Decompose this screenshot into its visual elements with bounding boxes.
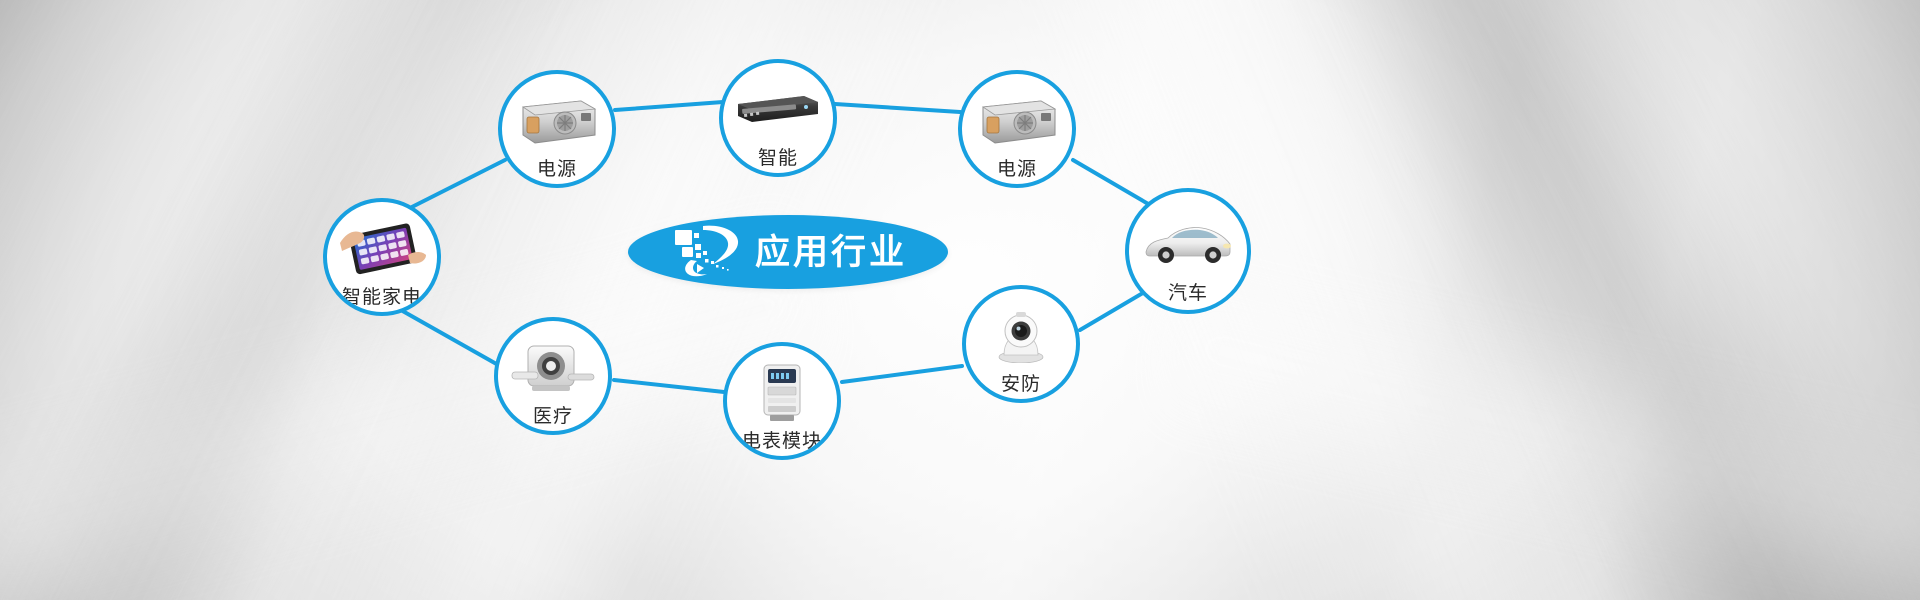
link-automotive-security	[1080, 290, 1148, 330]
rack-server-icon	[723, 63, 833, 141]
badge-title: 应用行业	[755, 235, 907, 270]
node-label: 电源	[537, 160, 577, 179]
node-power-right[interactable]: 电源	[958, 70, 1076, 188]
power-supply-icon	[502, 74, 612, 152]
node-security[interactable]: 安防	[962, 285, 1080, 403]
mri-scanner-icon	[498, 321, 608, 399]
link-power-right-automotive	[1073, 160, 1150, 205]
node-label: 电源	[997, 160, 1037, 179]
center-badge: 应用行业	[628, 215, 948, 289]
swoosh-pixel-logo	[669, 224, 741, 280]
power-supply-icon	[962, 74, 1072, 152]
electric-meter-icon	[727, 346, 837, 424]
sports-car-icon	[1129, 192, 1247, 276]
node-label: 智能	[758, 149, 798, 168]
node-label: 汽车	[1168, 284, 1208, 303]
application-industries-banner: 电源 智能	[0, 0, 1920, 600]
link-power-left-smart	[615, 102, 723, 110]
node-label: 智能家电	[342, 288, 422, 307]
link-smart-power-right	[835, 104, 960, 112]
link-security-meter	[842, 366, 962, 382]
node-connector-lines	[0, 0, 1920, 600]
node-medical[interactable]: 医疗	[494, 317, 612, 435]
node-smart-home[interactable]: 智能家电	[323, 198, 441, 316]
node-smart[interactable]: 智能	[719, 59, 837, 177]
node-label: 电表模块	[742, 432, 822, 451]
node-label: 安防	[1001, 375, 1041, 394]
node-meter-module[interactable]: 电表模块	[723, 342, 841, 460]
link-meter-medical	[614, 380, 724, 392]
node-automotive[interactable]: 汽车	[1125, 188, 1251, 314]
node-label: 医疗	[533, 407, 573, 426]
link-medical-smart-home	[392, 305, 500, 366]
ip-camera-icon	[966, 289, 1076, 367]
link-smart-home-power-left	[400, 160, 505, 213]
node-power-left[interactable]: 电源	[498, 70, 616, 188]
tablet-hand-icon	[327, 202, 437, 280]
